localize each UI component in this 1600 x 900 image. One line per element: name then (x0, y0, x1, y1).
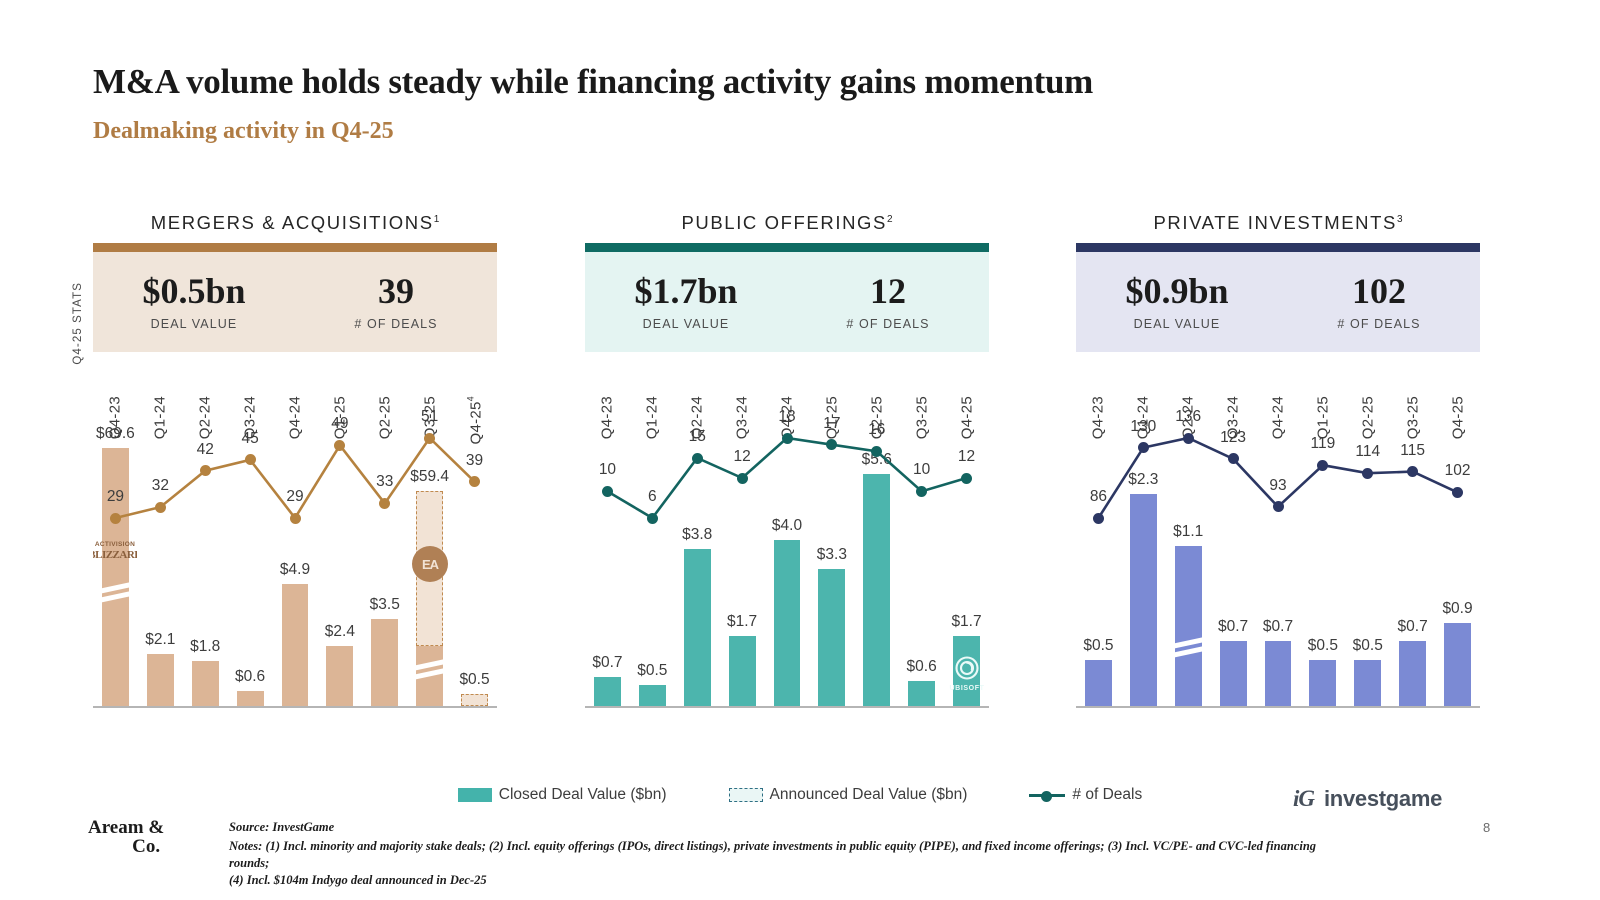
aream-co-logo: Aream & Co. (88, 818, 164, 856)
line-value-label: 39 (435, 452, 515, 470)
legend-label-closed: Closed Deal Value ($bn) (499, 786, 667, 804)
panel-title: MERGERS & ACQUISITIONS1 (93, 212, 497, 234)
stat-box: $0.9bnDEAL VALUE102# OF DEALS (1076, 243, 1480, 352)
chart-area: $0.7Q4-23$0.5Q1-24$3.8Q2-24$1.7Q3-24$4.0… (585, 388, 989, 708)
line-value-label: 45 (210, 430, 290, 448)
line-value-label: 51 (390, 408, 470, 426)
side-label: Q4-25 STATS (72, 250, 94, 365)
line-data-point[interactable] (1452, 487, 1463, 498)
investgame-wordmark: investgame (1324, 786, 1442, 812)
panel-title-superscript: 2 (887, 214, 893, 225)
line-value-label: 29 (255, 488, 335, 506)
aream-logo-line1: Aream & (88, 817, 164, 838)
line-value-label: 10 (567, 461, 647, 479)
line-data-point[interactable] (245, 454, 256, 465)
panel-2: PUBLIC OFFERINGS2$1.7bnDEAL VALUE12# OF … (585, 0, 989, 900)
line-data-point[interactable] (1228, 453, 1239, 464)
line-value-label: 16 (837, 421, 917, 439)
side-label-text: Q4-25 STATS (72, 282, 84, 365)
footnote-line-2: (4) Incl. $104m Indygo deal announced in… (229, 872, 1359, 889)
line-data-point[interactable] (602, 486, 613, 497)
legend-item-deals: # of Deals (1029, 786, 1142, 804)
stat-deal-value: $0.9bnDEAL VALUE (1076, 273, 1278, 331)
line-value-label: 32 (120, 477, 200, 495)
line-value-label: 6 (612, 488, 692, 506)
line-data-point[interactable] (1362, 468, 1373, 479)
panel-title-text: MERGERS & ACQUISITIONS (151, 212, 434, 233)
line-value-label: 123 (1193, 429, 1273, 447)
deal-value-number: $0.5bn (93, 273, 295, 311)
line-data-point[interactable] (110, 513, 121, 524)
line-data-point[interactable] (155, 502, 166, 513)
panel-title-superscript: 3 (1397, 214, 1403, 225)
legend-item-closed: Closed Deal Value ($bn) (458, 786, 667, 804)
stat-deal-count: 12# OF DEALS (787, 273, 989, 331)
stat-box: $0.5bnDEAL VALUE39# OF DEALS (93, 243, 497, 352)
line-data-point[interactable] (1138, 442, 1149, 453)
line-marker-icon (1029, 789, 1065, 801)
investgame-mark-icon: iG (1293, 786, 1314, 812)
slide: M&A volume holds steady while financing … (0, 0, 1600, 900)
stat-accent-bar (1076, 243, 1480, 252)
line-value-label: 93 (1238, 477, 1318, 495)
closed-swatch-icon (458, 788, 492, 802)
line-value-label: 115 (1373, 442, 1453, 460)
footnotes: Notes: (1) Incl. minority and majority s… (229, 838, 1359, 889)
line-data-point[interactable] (290, 513, 301, 524)
line-value-label: 102 (1418, 462, 1498, 480)
stat-body: $0.5bnDEAL VALUE39# OF DEALS (93, 252, 497, 352)
legend-item-announced: Announced Deal Value ($bn) (729, 786, 968, 804)
panel-title-text: PRIVATE INVESTMENTS (1153, 212, 1397, 233)
announced-swatch-icon (729, 788, 763, 802)
deal-value-label: DEAL VALUE (585, 317, 787, 331)
panel-3: PRIVATE INVESTMENTS3$0.9bnDEAL VALUE102#… (1076, 0, 1480, 900)
panel-title: PUBLIC OFFERINGS2 (585, 212, 989, 234)
line-value-label: 12 (702, 448, 782, 466)
deal-value-number: $1.7bn (585, 273, 787, 311)
deal-count-label: # OF DEALS (295, 317, 497, 331)
chart-area: ACTIVISIONBLIZZARD$69.6Q4-23$2.1Q1-24$1.… (93, 388, 497, 708)
legend-label-deals: # of Deals (1072, 786, 1142, 804)
line-data-point[interactable] (1273, 501, 1284, 512)
page-number: 8 (1483, 820, 1490, 835)
line-data-point[interactable] (647, 513, 658, 524)
stat-box: $1.7bnDEAL VALUE12# OF DEALS (585, 243, 989, 352)
panel-title-text: PUBLIC OFFERINGS (681, 212, 887, 233)
line-data-point[interactable] (782, 433, 793, 444)
line-data-point[interactable] (916, 486, 927, 497)
investgame-logo: iG investgame (1293, 786, 1442, 812)
panel-title-superscript: 1 (434, 214, 440, 225)
line-data-point[interactable] (424, 433, 435, 444)
deal-count-label: # OF DEALS (1278, 317, 1480, 331)
stat-accent-bar (585, 243, 989, 252)
line-value-label: 33 (345, 473, 425, 491)
line-value-label: 86 (1058, 488, 1138, 506)
deals-line-series (1076, 388, 1480, 708)
deal-count-label: # OF DEALS (787, 317, 989, 331)
stat-accent-bar (93, 243, 497, 252)
deal-value-label: DEAL VALUE (1076, 317, 1278, 331)
line-data-point[interactable] (961, 473, 972, 484)
chart-area: $0.5Q4-23$2.3Q1-24$1.1Q2-24$0.7Q3-24$0.7… (1076, 388, 1480, 708)
stat-deal-value: $1.7bnDEAL VALUE (585, 273, 787, 331)
deal-count-number: 39 (295, 273, 497, 311)
panel-1: MERGERS & ACQUISITIONS1$0.5bnDEAL VALUE3… (93, 0, 497, 900)
deal-value-label: DEAL VALUE (93, 317, 295, 331)
line-value-label: 136 (1148, 408, 1228, 426)
deal-count-number: 12 (787, 273, 989, 311)
line-data-point[interactable] (737, 473, 748, 484)
stat-body: $1.7bnDEAL VALUE12# OF DEALS (585, 252, 989, 352)
line-data-point[interactable] (1183, 433, 1194, 444)
deals-line-series (93, 388, 497, 708)
stat-deal-count: 39# OF DEALS (295, 273, 497, 331)
deal-value-number: $0.9bn (1076, 273, 1278, 311)
panel-title: PRIVATE INVESTMENTS3 (1076, 212, 1480, 234)
line-data-point[interactable] (1093, 513, 1104, 524)
line-value-label: 12 (927, 448, 1007, 466)
stat-deal-value: $0.5bnDEAL VALUE (93, 273, 295, 331)
line-data-point[interactable] (200, 465, 211, 476)
source-note: Source: InvestGame (229, 820, 334, 835)
deal-count-number: 102 (1278, 273, 1480, 311)
line-value-label: 49 (300, 415, 380, 433)
line-value-label: 15 (657, 428, 737, 446)
legend-label-announced: Announced Deal Value ($bn) (770, 786, 968, 804)
footnote-line-1: Notes: (1) Incl. minority and majority s… (229, 838, 1359, 872)
stat-body: $0.9bnDEAL VALUE102# OF DEALS (1076, 252, 1480, 352)
line-data-point[interactable] (692, 453, 703, 464)
stat-deal-count: 102# OF DEALS (1278, 273, 1480, 331)
aream-logo-line2: Co. (88, 837, 164, 856)
